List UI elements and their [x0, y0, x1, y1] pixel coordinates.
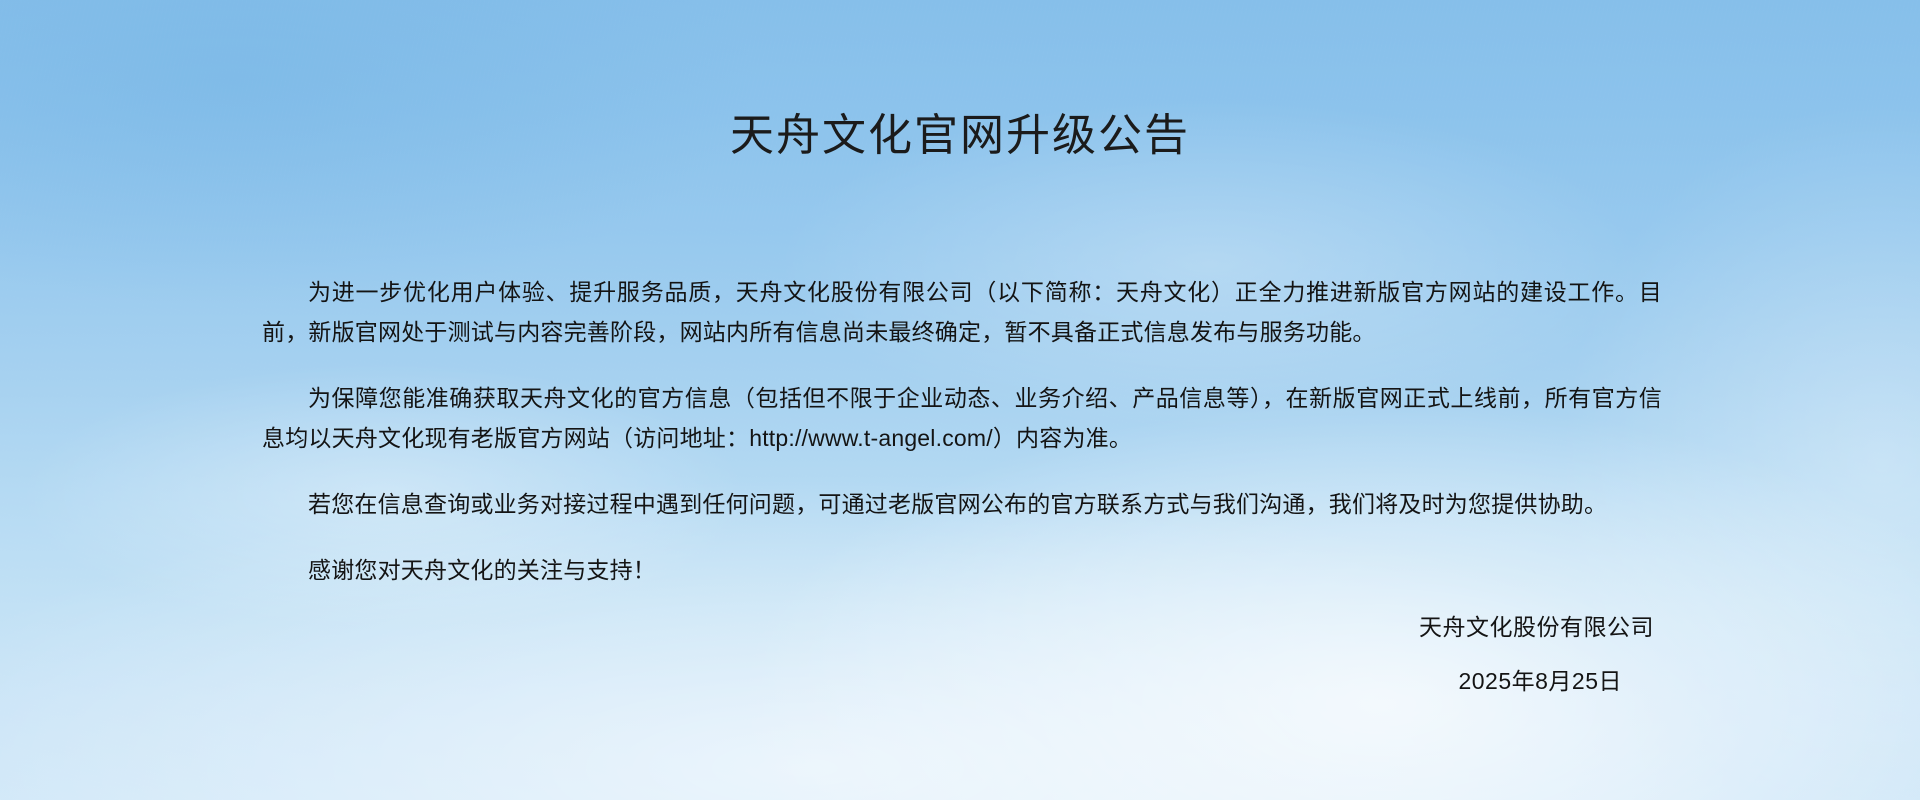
- announcement-paragraph-4: 感谢您对天舟文化的关注与支持！: [262, 550, 1662, 590]
- announcement-paragraph-2: 为保障您能准确获取天舟文化的官方信息（包括但不限于企业动态、业务介绍、产品信息等…: [262, 378, 1662, 458]
- signature-block: 天舟文化股份有限公司 2025年8月25日: [262, 610, 1662, 698]
- announcement-notice: 天舟文化官网升级公告 为进一步优化用户体验、提升服务品质，天舟文化股份有限公司（…: [0, 0, 1920, 800]
- announcement-body: 为进一步优化用户体验、提升服务品质，天舟文化股份有限公司（以下简称：天舟文化）正…: [262, 272, 1662, 590]
- announcement-paragraph-1: 为进一步优化用户体验、提升服务品质，天舟文化股份有限公司（以下简称：天舟文化）正…: [262, 272, 1662, 352]
- page-title: 天舟文化官网升级公告: [0, 110, 1920, 163]
- signature-date: 2025年8月25日: [262, 664, 1662, 698]
- signature-company: 天舟文化股份有限公司: [262, 610, 1662, 644]
- announcement-paragraph-3: 若您在信息查询或业务对接过程中遇到任何问题，可通过老版官网公布的官方联系方式与我…: [262, 484, 1662, 524]
